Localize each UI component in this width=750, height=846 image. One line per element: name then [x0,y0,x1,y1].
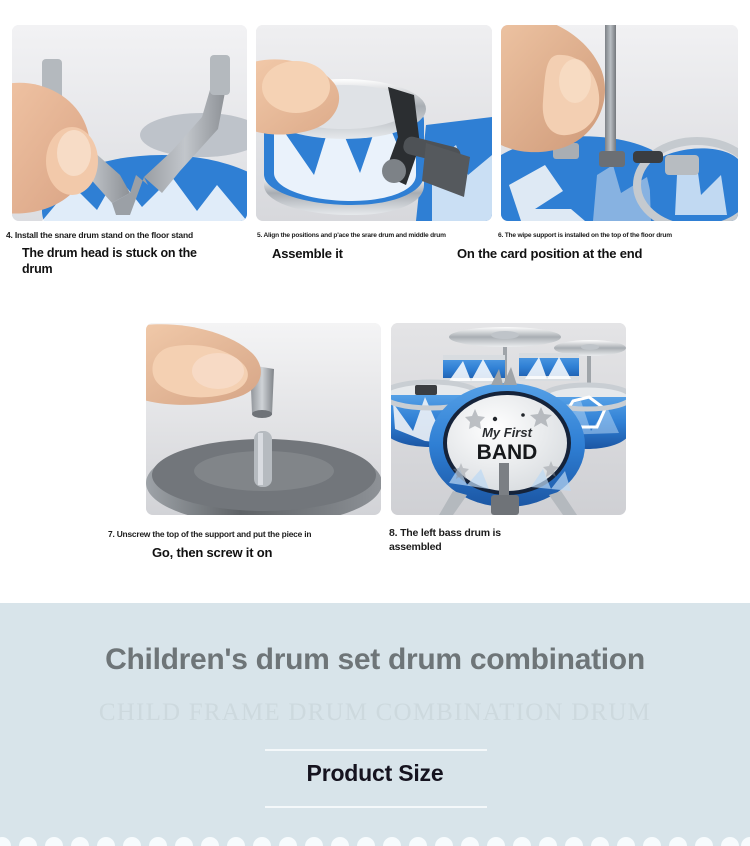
product-detail-page: 4. Install the snare drum stand on the f… [0,0,750,846]
step-7-sub-caption: Go, then screw it on [152,545,392,562]
scalloped-bottom-edge [0,830,750,846]
step-image-6 [501,25,738,221]
divider-top [265,749,487,751]
step-6-number-caption: 6. The wipe support is installed on the … [498,232,748,240]
step-7-number-caption: 7. Unscrew the top of the support and pu… [108,529,418,540]
step-image-5 [256,25,492,221]
step-8-number-caption: 8. The left bass drum is assembled [389,526,539,554]
step-image-7 [146,323,381,515]
product-size-banner: Children's drum set drum combination CHI… [0,603,750,846]
banner-title: Children's drum set drum combination [0,643,750,677]
divider-bottom [265,806,487,808]
step-6-sub-caption: On the card position at the end [457,246,737,263]
step-5-number-caption: 5. Align the positions and p'ace the sra… [257,232,497,240]
bass-drum-logo-line1: My First [482,425,533,440]
step-image-8: My First BAND [391,323,626,515]
step-4-sub-caption: The drum head is stuck on the drum [22,245,222,278]
bass-drum-logo-line2: BAND [477,441,538,464]
product-size-label: Product Size [0,760,750,787]
banner-subtitle: CHILD FRAME DRUM COMBINATION DRUM [0,699,750,727]
step-image-4 [12,25,247,221]
step-4-number-caption: 4. Install the snare drum stand on the f… [6,230,250,241]
